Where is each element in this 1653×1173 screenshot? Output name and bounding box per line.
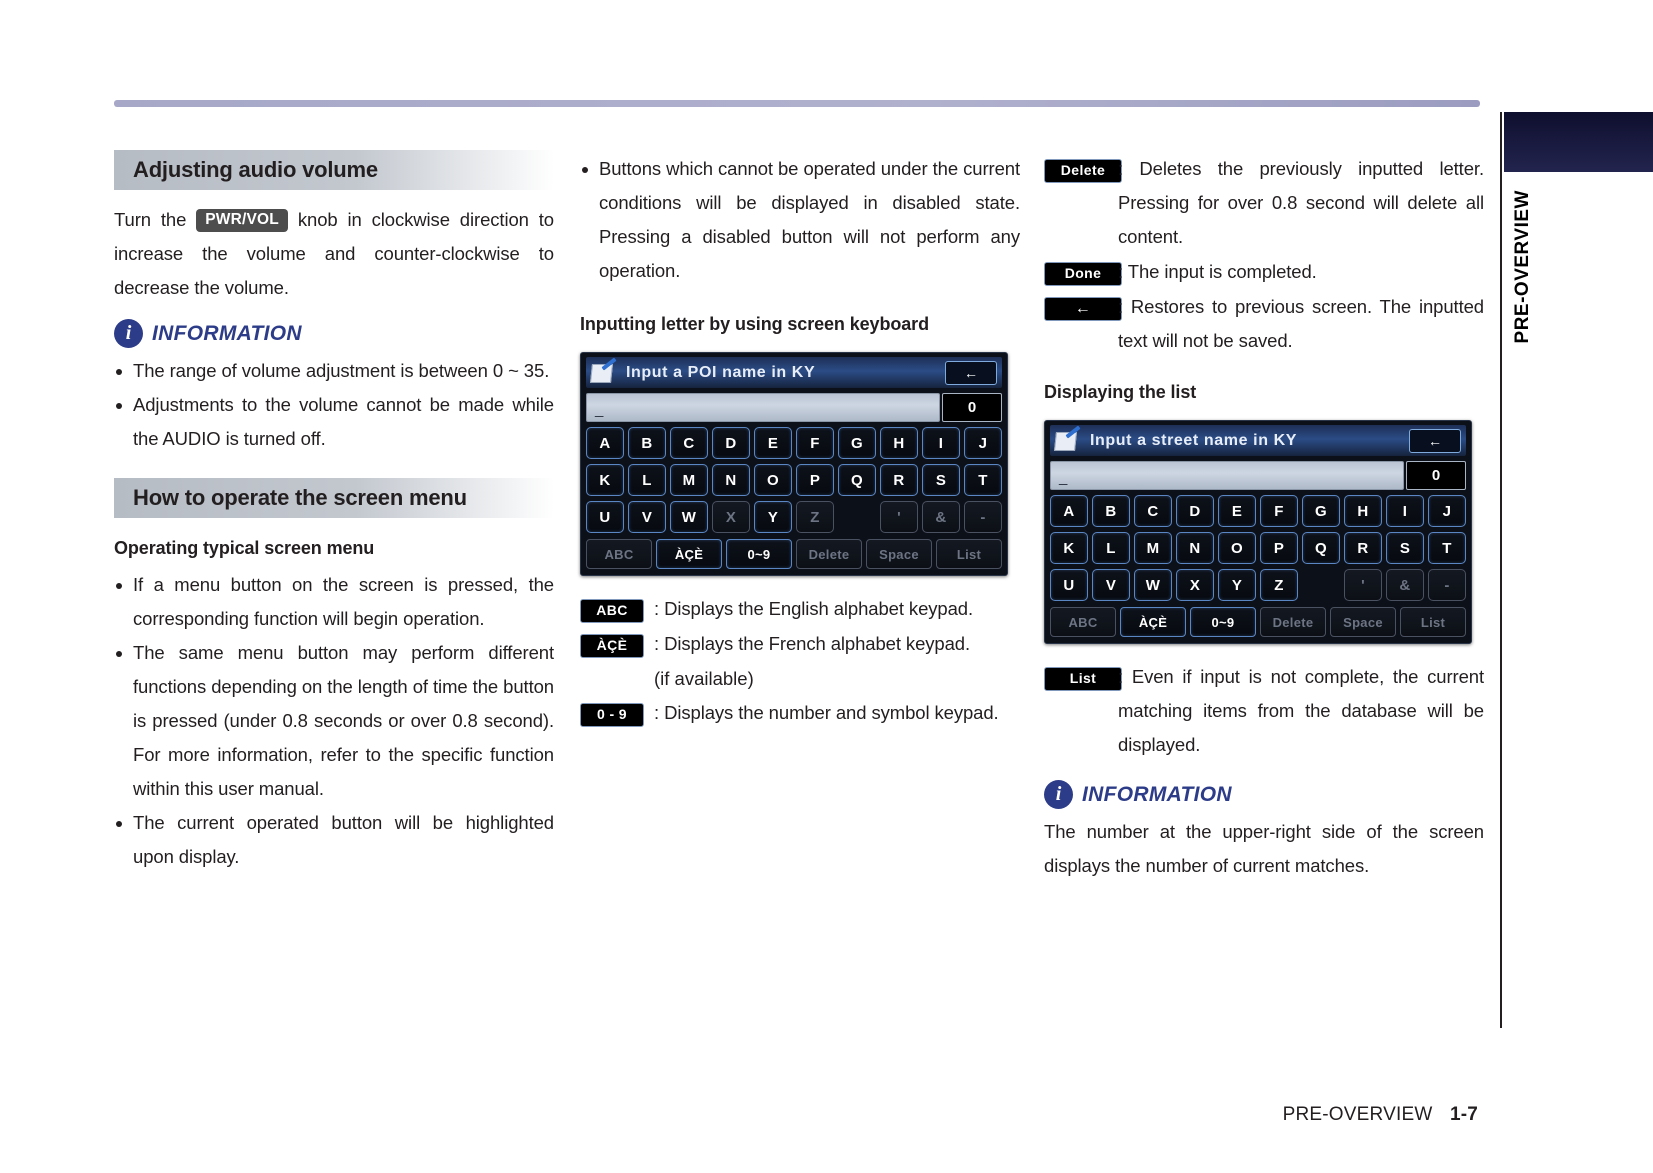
- keyboard-titlebar: Input a street name in KY ←: [1050, 425, 1466, 456]
- back-arrow-glyph: ←: [1075, 300, 1091, 317]
- back-arrow-icon[interactable]: ←: [1409, 429, 1461, 453]
- keyboard-function-row: ABC ÀÇÈ 0~9 Delete Space List: [586, 539, 1002, 569]
- text-input-field[interactable]: _: [586, 393, 940, 422]
- key-b[interactable]: B: [628, 427, 666, 459]
- information-title: INFORMATION: [1082, 783, 1232, 807]
- legend-button-delete: Delete: [1044, 159, 1122, 183]
- list-item: Adjustments to the volume cannot be made…: [114, 388, 554, 456]
- header-rule: [114, 100, 1480, 107]
- thumb-index-block: [1504, 112, 1653, 172]
- information-bullet-list-1: The range of volume adjustment is betwee…: [114, 354, 554, 456]
- keyboard-row-3: U V W X Y Z ' & -: [1050, 569, 1466, 601]
- sub-heading-inputting-letter: Inputting letter by using screen keyboar…: [580, 312, 930, 336]
- manual-page: PRE-OVERVIEW Adjusting audio volume Turn…: [0, 0, 1653, 1173]
- keyboard-row-2: K L M N O P Q R S T: [1050, 532, 1466, 564]
- audio-volume-paragraph: Turn the PWR/VOL knob in clockwise direc…: [114, 203, 554, 305]
- key-r[interactable]: R: [880, 464, 918, 496]
- key-e[interactable]: E: [1218, 495, 1256, 527]
- key-space: Space: [1330, 607, 1396, 637]
- key-x: X: [712, 501, 750, 533]
- info-icon: i: [114, 319, 143, 348]
- key-apostrophe: ': [880, 501, 918, 533]
- key-d[interactable]: D: [1176, 495, 1214, 527]
- legend-button-done: Done: [1044, 262, 1122, 286]
- key-ampersand: &: [1386, 569, 1424, 601]
- document-pen-icon: [591, 363, 618, 383]
- column-right: Delete : Deletes the previously inputted…: [1044, 150, 1484, 885]
- key-n[interactable]: N: [712, 464, 750, 496]
- key-r[interactable]: R: [1344, 532, 1382, 564]
- key-z[interactable]: Z: [1260, 569, 1298, 601]
- key-f[interactable]: F: [796, 427, 834, 459]
- disabled-buttons-bullet-list: Buttons which cannot be operated under t…: [580, 152, 1020, 288]
- key-w[interactable]: W: [670, 501, 708, 533]
- key-list: List: [936, 539, 1002, 569]
- legend-item-numbers: 0 - 9 : Displays the number and symbol k…: [580, 696, 1020, 730]
- key-x[interactable]: X: [1176, 569, 1214, 601]
- legend-desc-accents-cont: (if available): [654, 662, 1020, 696]
- key-t[interactable]: T: [1428, 532, 1466, 564]
- thumb-index-label: PRE-OVERVIEW: [1512, 190, 1552, 343]
- page-footer: PRE-OVERVIEW 1-7: [0, 1104, 1653, 1126]
- key-s[interactable]: S: [1386, 532, 1424, 564]
- keyboard-row-1: A B C D E F G H I J: [586, 427, 1002, 459]
- key-g[interactable]: G: [1302, 495, 1340, 527]
- key-h[interactable]: H: [1344, 495, 1382, 527]
- key-h[interactable]: H: [880, 427, 918, 459]
- keyboard-title: Input a POI name in KY: [626, 364, 937, 382]
- key-j[interactable]: J: [964, 427, 1002, 459]
- legend-item-delete: Delete : Deletes the previously inputted…: [1044, 152, 1484, 254]
- legend-item-done: Done : The input is completed.: [1044, 255, 1484, 289]
- key-i[interactable]: I: [922, 427, 960, 459]
- information-text: The number at the upper-right side of th…: [1044, 815, 1484, 883]
- key-i[interactable]: I: [1386, 495, 1424, 527]
- legend-button-accents: ÀÇÈ: [580, 634, 644, 658]
- legend-item-abc: ABC : Displays the English alphabet keyp…: [580, 592, 1020, 626]
- key-apostrophe: ': [1344, 569, 1382, 601]
- list-item: Buttons which cannot be operated under t…: [580, 152, 1020, 288]
- text-input-field[interactable]: _: [1050, 461, 1404, 490]
- legend-desc-abc: : Displays the English alphabet keypad.: [654, 592, 1020, 626]
- key-m[interactable]: M: [1134, 532, 1172, 564]
- key-c[interactable]: C: [670, 427, 708, 459]
- key-l[interactable]: L: [628, 464, 666, 496]
- screen-keyboard-street[interactable]: Input a street name in KY ← _ 0 A B C D …: [1044, 420, 1472, 644]
- legend-desc-numbers: : Displays the number and symbol keypad.: [654, 696, 1020, 730]
- key-f[interactable]: F: [1260, 495, 1298, 527]
- information-title: INFORMATION: [152, 322, 302, 346]
- key-q[interactable]: Q: [838, 464, 876, 496]
- footer-page-number: 1-7: [1450, 1104, 1478, 1125]
- key-abc: ABC: [586, 539, 652, 569]
- key-numbers[interactable]: 0~9: [726, 539, 792, 569]
- key-abc: ABC: [1050, 607, 1116, 637]
- legend-desc-back: : Restores to previous screen. The input…: [1118, 290, 1484, 358]
- legend-desc-delete: : Deletes the previously inputted letter…: [1118, 152, 1484, 254]
- section-heading-audio-volume: Adjusting audio volume: [114, 150, 554, 190]
- key-t[interactable]: T: [964, 464, 1002, 496]
- key-delete: Delete: [796, 539, 862, 569]
- legend-desc-list: : Even if input is not complete, the cur…: [1118, 660, 1484, 762]
- list-item: The range of volume adjustment is betwee…: [114, 354, 554, 388]
- info-icon: i: [1044, 780, 1073, 809]
- information-header-2: i INFORMATION: [1044, 780, 1484, 809]
- key-blank: [838, 501, 876, 533]
- keyboard-legend-bottom: List : Even if input is not complete, th…: [1044, 660, 1484, 762]
- legend-desc-done: : The input is completed.: [1118, 255, 1484, 289]
- key-k[interactable]: K: [586, 464, 624, 496]
- keyboard-title: Input a street name in KY: [1090, 432, 1401, 450]
- key-s[interactable]: S: [922, 464, 960, 496]
- key-y[interactable]: Y: [1218, 569, 1256, 601]
- key-e[interactable]: E: [754, 427, 792, 459]
- key-space: Space: [866, 539, 932, 569]
- legend-button-abc: ABC: [580, 599, 644, 623]
- keyboard-titlebar: Input a POI name in KY ←: [586, 357, 1002, 388]
- information-header-1: i INFORMATION: [114, 319, 554, 348]
- legend-item-list: List : Even if input is not complete, th…: [1044, 660, 1484, 762]
- keyboard-row-2: K L M N O P Q R S T: [586, 464, 1002, 496]
- key-c[interactable]: C: [1134, 495, 1172, 527]
- key-q[interactable]: Q: [1302, 532, 1340, 564]
- sub-heading-displaying-list: Displaying the list: [1044, 380, 1484, 404]
- key-p[interactable]: P: [1260, 532, 1298, 564]
- key-hyphen: -: [964, 501, 1002, 533]
- back-arrow-icon[interactable]: ←: [945, 361, 997, 385]
- match-count-box: 0: [942, 393, 1002, 422]
- operating-bullet-list: If a menu button on the screen is presse…: [114, 568, 554, 874]
- keyboard-function-row: ABC ÀÇÈ 0~9 Delete Space List: [1050, 607, 1466, 637]
- paragraph-text-before: Turn the: [114, 209, 186, 230]
- key-k[interactable]: K: [1050, 532, 1088, 564]
- key-v[interactable]: V: [1092, 569, 1130, 601]
- back-arrow-icon: ←: [1044, 297, 1122, 321]
- key-v[interactable]: V: [628, 501, 666, 533]
- legend-desc-accents: : Displays the French alphabet keypad.: [654, 627, 1020, 661]
- key-b[interactable]: B: [1092, 495, 1130, 527]
- keyboard-row-1: A B C D E F G H I J: [1050, 495, 1466, 527]
- key-z: Z: [796, 501, 834, 533]
- key-accents[interactable]: ÀÇÈ: [1120, 607, 1186, 637]
- legend-button-numbers: 0 - 9: [580, 703, 644, 727]
- key-w[interactable]: W: [1134, 569, 1172, 601]
- key-u[interactable]: U: [1050, 569, 1088, 601]
- match-count-box: 0: [1406, 461, 1466, 490]
- key-numbers[interactable]: 0~9: [1190, 607, 1256, 637]
- keyboard-legend-top: Delete : Deletes the previously inputted…: [1044, 152, 1484, 358]
- key-d[interactable]: D: [712, 427, 750, 459]
- key-o[interactable]: O: [754, 464, 792, 496]
- keyboard-legend-middle: ABC : Displays the English alphabet keyp…: [580, 592, 1020, 730]
- sub-heading-operating-typical: Operating typical screen menu: [114, 536, 554, 560]
- key-hyphen: -: [1428, 569, 1466, 601]
- key-y[interactable]: Y: [754, 501, 792, 533]
- key-m[interactable]: M: [670, 464, 708, 496]
- footer-section-label: PRE-OVERVIEW: [1283, 1104, 1433, 1125]
- keyboard-row-3: U V W X Y Z ' & -: [586, 501, 1002, 533]
- key-u[interactable]: U: [586, 501, 624, 533]
- key-accents[interactable]: ÀÇÈ: [656, 539, 722, 569]
- list-item: The same menu button may perform differe…: [114, 636, 554, 806]
- keyboard-input-bar: _ 0: [1050, 461, 1466, 490]
- column-left: Adjusting audio volume Turn the PWR/VOL …: [114, 150, 554, 874]
- key-delete: Delete: [1260, 607, 1326, 637]
- key-list: List: [1400, 607, 1466, 637]
- legend-item-accents: ÀÇÈ : Displays the French alphabet keypa…: [580, 627, 1020, 661]
- list-item: If a menu button on the screen is presse…: [114, 568, 554, 636]
- document-pen-icon: [1055, 431, 1082, 451]
- section-heading-screen-menu: How to operate the screen menu: [114, 478, 554, 518]
- legend-item-back: ← : Restores to previous screen. The inp…: [1044, 290, 1484, 358]
- key-p[interactable]: P: [796, 464, 834, 496]
- legend-button-list: List: [1044, 667, 1122, 691]
- key-l[interactable]: L: [1092, 532, 1130, 564]
- key-ampersand: &: [922, 501, 960, 533]
- key-n[interactable]: N: [1176, 532, 1214, 564]
- key-o[interactable]: O: [1218, 532, 1256, 564]
- key-j[interactable]: J: [1428, 495, 1466, 527]
- key-a[interactable]: A: [1050, 495, 1088, 527]
- key-g[interactable]: G: [838, 427, 876, 459]
- key-blank: [1302, 569, 1340, 601]
- list-item: The current operated button will be high…: [114, 806, 554, 874]
- key-a[interactable]: A: [586, 427, 624, 459]
- column-middle: Buttons which cannot be operated under t…: [580, 150, 1020, 731]
- pwr-vol-key-chip: PWR/VOL: [196, 209, 288, 232]
- screen-keyboard-poi[interactable]: Input a POI name in KY ← _ 0 A B C D E F…: [580, 352, 1008, 576]
- keyboard-input-bar: _ 0: [586, 393, 1002, 422]
